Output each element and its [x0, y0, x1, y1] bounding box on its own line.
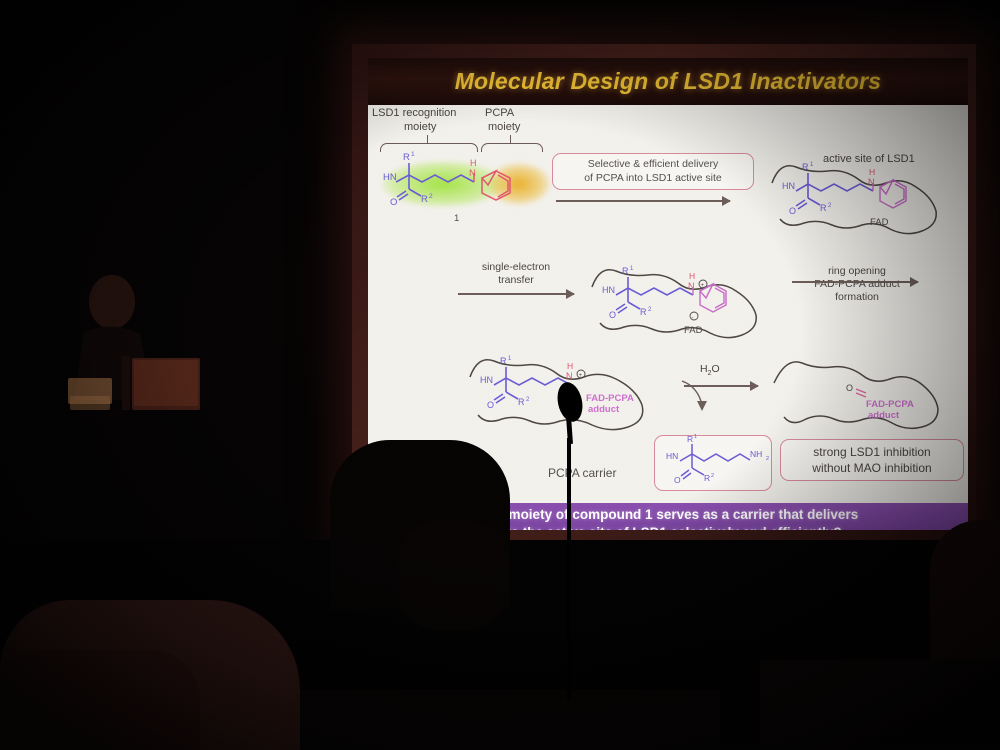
svg-text:1: 1	[630, 266, 634, 272]
svg-text:R: R	[518, 397, 525, 407]
callout-result: strong LSD1 inhibition without MAO inhib…	[780, 439, 964, 481]
svg-text:2: 2	[648, 307, 652, 313]
svg-text:O: O	[789, 206, 796, 216]
svg-text:R: R	[704, 473, 710, 483]
svg-text:1: 1	[508, 356, 512, 362]
footer-line1: sine moiety of compound 1 serves as a ca…	[478, 506, 858, 524]
arrow-label-ring-opening-line1: ring opening	[792, 265, 922, 277]
structure-radical-cation: HN R 1 O R 2 H N +	[586, 253, 786, 345]
curved-arrow-release	[680, 377, 720, 417]
label-recognition-moiety-line1: LSD1 recognition	[372, 107, 456, 119]
svg-text:R: R	[802, 162, 809, 172]
callout-result-line2: without MAO inhibition	[788, 460, 956, 476]
svg-text:HN: HN	[666, 451, 678, 461]
svg-text:H: H	[470, 158, 477, 168]
svg-text:O: O	[846, 383, 853, 393]
label-pcpa-moiety-line2: moiety	[488, 121, 520, 133]
arrow-single-electron-transfer	[458, 293, 574, 295]
svg-text:2: 2	[429, 193, 433, 200]
svg-text:2: 2	[526, 397, 530, 403]
svg-text:+: +	[701, 283, 705, 289]
svg-text:2: 2	[766, 456, 769, 462]
svg-text:O: O	[609, 310, 616, 320]
svg-text:NH: NH	[750, 449, 762, 459]
arrow-label-set-line1: single-electron	[456, 261, 576, 273]
svg-text:H: H	[689, 271, 695, 281]
footer-line2: into the active site of LSD1 selectively…	[494, 524, 841, 530]
svg-text:H: H	[567, 361, 573, 371]
svg-text:1: 1	[810, 162, 814, 168]
slide-title: Molecular Design of LSD1 Inactivators	[455, 68, 882, 95]
svg-text:1: 1	[694, 434, 697, 440]
svg-text:R: R	[640, 307, 647, 317]
arrow-ring-opening	[792, 281, 918, 283]
svg-text:R: R	[687, 434, 693, 444]
speaker-and-podium	[60, 270, 250, 440]
callout-delivery-line1: Selective & efficient delivery	[560, 158, 746, 172]
svg-text:2: 2	[828, 203, 832, 209]
arrow-label-ring-opening-line2: FAD-PCPA adduct	[788, 278, 926, 290]
brace-pcpa-stem	[510, 135, 511, 144]
svg-text:O: O	[390, 197, 397, 208]
slide-title-bar: Molecular Design of LSD1 Inactivators	[368, 58, 968, 105]
arrow-label-set-line2: transfer	[456, 274, 576, 286]
label-pcpa-moiety-line1: PCPA	[485, 107, 514, 119]
svg-text:R: R	[500, 356, 507, 366]
structure-compound-1: HN R 1 O R 2 H N 1	[376, 149, 566, 224]
foreground-row-center	[300, 690, 720, 750]
callout-delivery: Selective & efficient delivery of PCPA i…	[552, 153, 754, 190]
structure-empty-pocket: O FAD-PCPA adduct	[768, 343, 963, 435]
callout-delivery-line2: of PCPA into LSD1 active site	[560, 172, 746, 186]
svg-text:1: 1	[454, 213, 459, 224]
svg-text:O: O	[487, 400, 494, 410]
svg-text:-: -	[692, 315, 694, 321]
svg-text:R: R	[820, 203, 827, 213]
brace-recognition-stem	[427, 135, 428, 144]
arrow-label-ring-opening-line3: formation	[792, 291, 922, 303]
svg-text:R: R	[622, 266, 629, 276]
callout-result-line1: strong LSD1 inhibition	[788, 444, 956, 460]
svg-text:HN: HN	[782, 181, 795, 191]
svg-text:FAD-PCPA: FAD-PCPA	[866, 399, 914, 410]
svg-text:HN: HN	[602, 285, 615, 295]
svg-text:FAD: FAD	[684, 325, 703, 336]
svg-text:O: O	[674, 475, 681, 485]
audience-head-left	[0, 650, 200, 750]
svg-text:2: 2	[711, 473, 714, 479]
structure-lysine-carrier: HN R 1 O R 2 NH 2	[658, 435, 776, 493]
structure-bound-compound: HN R 1 O R 2 H N FAD	[766, 149, 966, 241]
svg-text:N: N	[469, 168, 476, 179]
lecture-hall-photo: Molecular Design of LSD1 Inactivators LS…	[0, 0, 1000, 750]
audience-head-center-2	[398, 520, 508, 630]
svg-text:FAD: FAD	[870, 217, 889, 228]
svg-text:1: 1	[411, 151, 415, 158]
svg-text:HN: HN	[383, 172, 397, 183]
svg-text:adduct: adduct	[868, 410, 900, 421]
label-water-text: H2O	[700, 363, 720, 375]
svg-text:H: H	[869, 167, 875, 177]
svg-text:+: +	[579, 373, 583, 379]
arrow-delivery	[556, 200, 730, 202]
svg-text:R: R	[421, 194, 428, 205]
foreground-row-right	[760, 660, 1000, 750]
svg-text:HN: HN	[480, 375, 493, 385]
label-recognition-moiety-line2: moiety	[404, 121, 436, 133]
microphone-on-stand	[548, 380, 608, 700]
svg-text:R: R	[403, 152, 410, 163]
